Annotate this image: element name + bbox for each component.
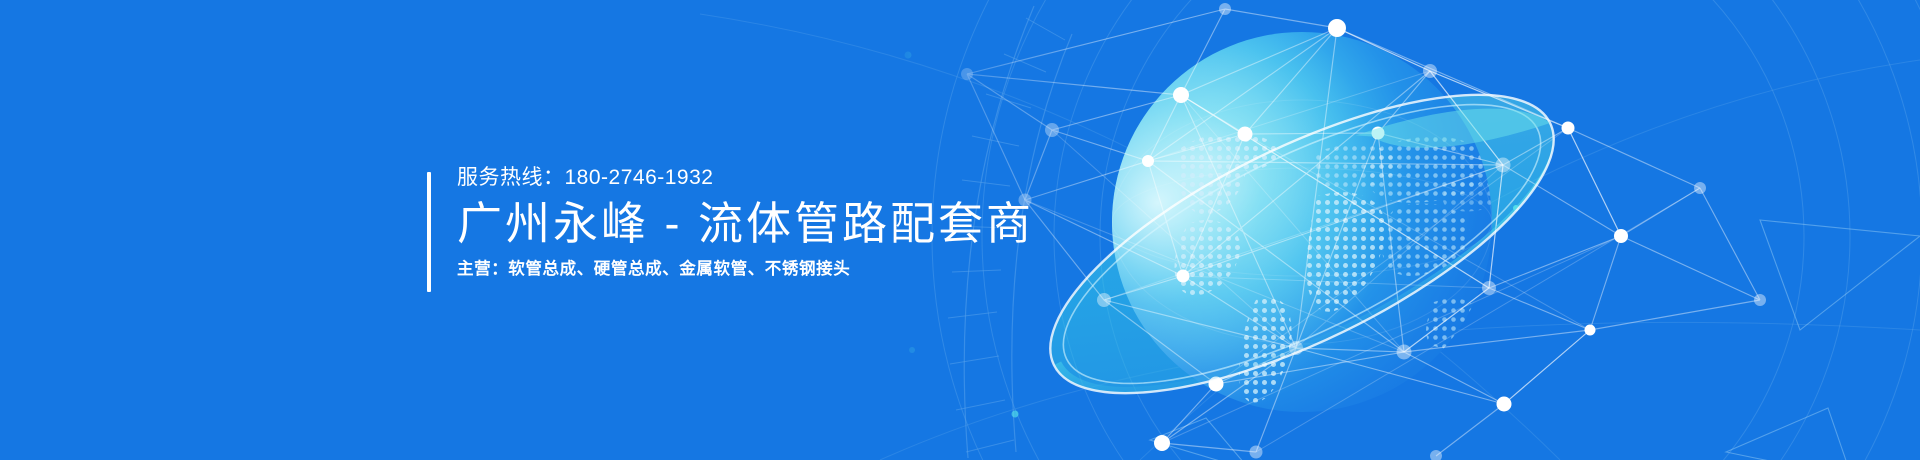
orbital-ring-back <box>1011 36 1592 452</box>
hero-text-lines: 服务热线：180-2746-1932 广州永峰 - 流体管路配套商 主营：软管总… <box>457 165 1034 292</box>
page-title: 广州永峰 - 流体管路配套商 <box>457 195 1034 253</box>
product-scope: 主营：软管总成、硬管总成、金属软管、不锈钢接头 <box>457 256 1034 282</box>
orbital-ring-lobe <box>1356 56 1550 201</box>
wireframe-triangle <box>1150 220 1920 460</box>
hotline-text: 服务热线：180-2746-1932 <box>457 165 1034 191</box>
hero-text-block: 服务热线：180-2746-1932 广州永峰 - 流体管路配套商 主营：软管总… <box>427 165 1034 292</box>
mesh-node-soft <box>961 3 1766 460</box>
mesh-node <box>1142 19 1628 451</box>
network-globe-graphic <box>1112 32 1502 412</box>
dotted-continents <box>1175 133 1502 403</box>
accent-bar <box>427 172 431 292</box>
orbital-ring <box>1011 36 1592 452</box>
hero-banner: 服务热线：180-2746-1932 广州永峰 - 流体管路配套商 主营：软管总… <box>0 0 1920 460</box>
